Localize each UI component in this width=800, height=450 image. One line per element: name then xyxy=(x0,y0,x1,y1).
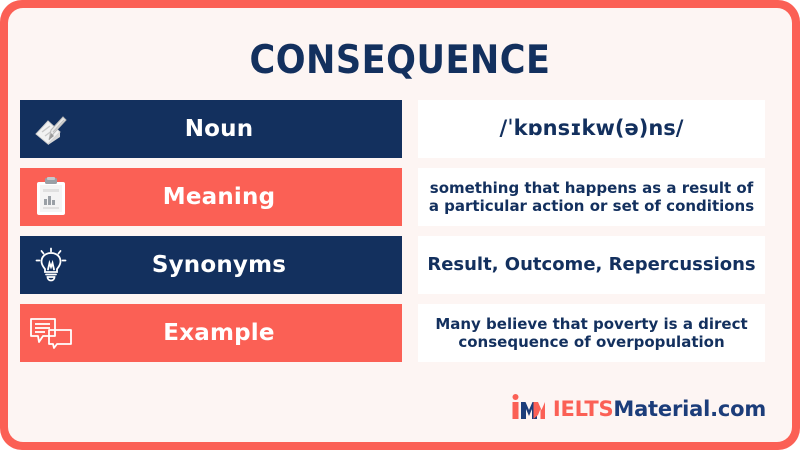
row-label-noun[interactable]: Noun xyxy=(20,100,402,158)
row-label-text: Synonyms xyxy=(82,252,402,278)
vocabulary-card: CONSEQUENCE xyxy=(0,0,800,450)
table-row: Noun /ˈkɒnsɪkw(ə)ns/ xyxy=(8,100,792,158)
clipboard-icon xyxy=(20,168,82,226)
row-label-text: Noun xyxy=(82,116,402,142)
row-value-text: Result, Outcome, Repercussions xyxy=(427,254,755,276)
pen-paper-icon xyxy=(20,100,82,158)
table-row: Example Many believe that poverty is a d… xyxy=(8,304,792,362)
card-inner: CONSEQUENCE xyxy=(8,8,792,442)
row-value-text: something that happens as a result of a … xyxy=(426,179,757,216)
row-label-synonyms[interactable]: Synonyms xyxy=(20,236,402,294)
word-detail-rows: Noun /ˈkɒnsɪkw(ə)ns/ xyxy=(8,100,792,372)
row-label-example[interactable]: Example xyxy=(20,304,402,362)
row-label-text: Example xyxy=(82,320,402,346)
row-label-meaning[interactable]: Meaning xyxy=(20,168,402,226)
table-row: Synonyms Result, Outcome, Repercussions xyxy=(8,236,792,294)
lightbulb-icon xyxy=(20,236,82,294)
brand-logo-primary: IELTS xyxy=(553,397,614,421)
speech-bubbles-icon xyxy=(20,304,82,362)
row-value-text: Many believe that poverty is a direct co… xyxy=(426,315,757,352)
page-title: CONSEQUENCE xyxy=(8,36,792,86)
im-monogram-icon xyxy=(511,394,545,424)
row-value-text: /ˈkɒnsɪkw(ə)ns/ xyxy=(500,116,684,142)
brand-logo-text: IELTSMaterial.com xyxy=(553,397,766,421)
row-value-panel-noun: /ˈkɒnsɪkw(ə)ns/ xyxy=(418,100,765,158)
row-label-text: Meaning xyxy=(82,184,402,210)
brand-logo-secondary: Material.com xyxy=(613,397,766,421)
table-row: Meaning something that happens as a resu… xyxy=(8,168,792,226)
brand-footer[interactable]: IELTSMaterial.com xyxy=(511,394,766,424)
row-value-panel-meaning: something that happens as a result of a … xyxy=(418,168,765,226)
row-value-panel-example: Many believe that poverty is a direct co… xyxy=(418,304,765,362)
row-value-panel-synonyms: Result, Outcome, Repercussions xyxy=(418,236,765,294)
